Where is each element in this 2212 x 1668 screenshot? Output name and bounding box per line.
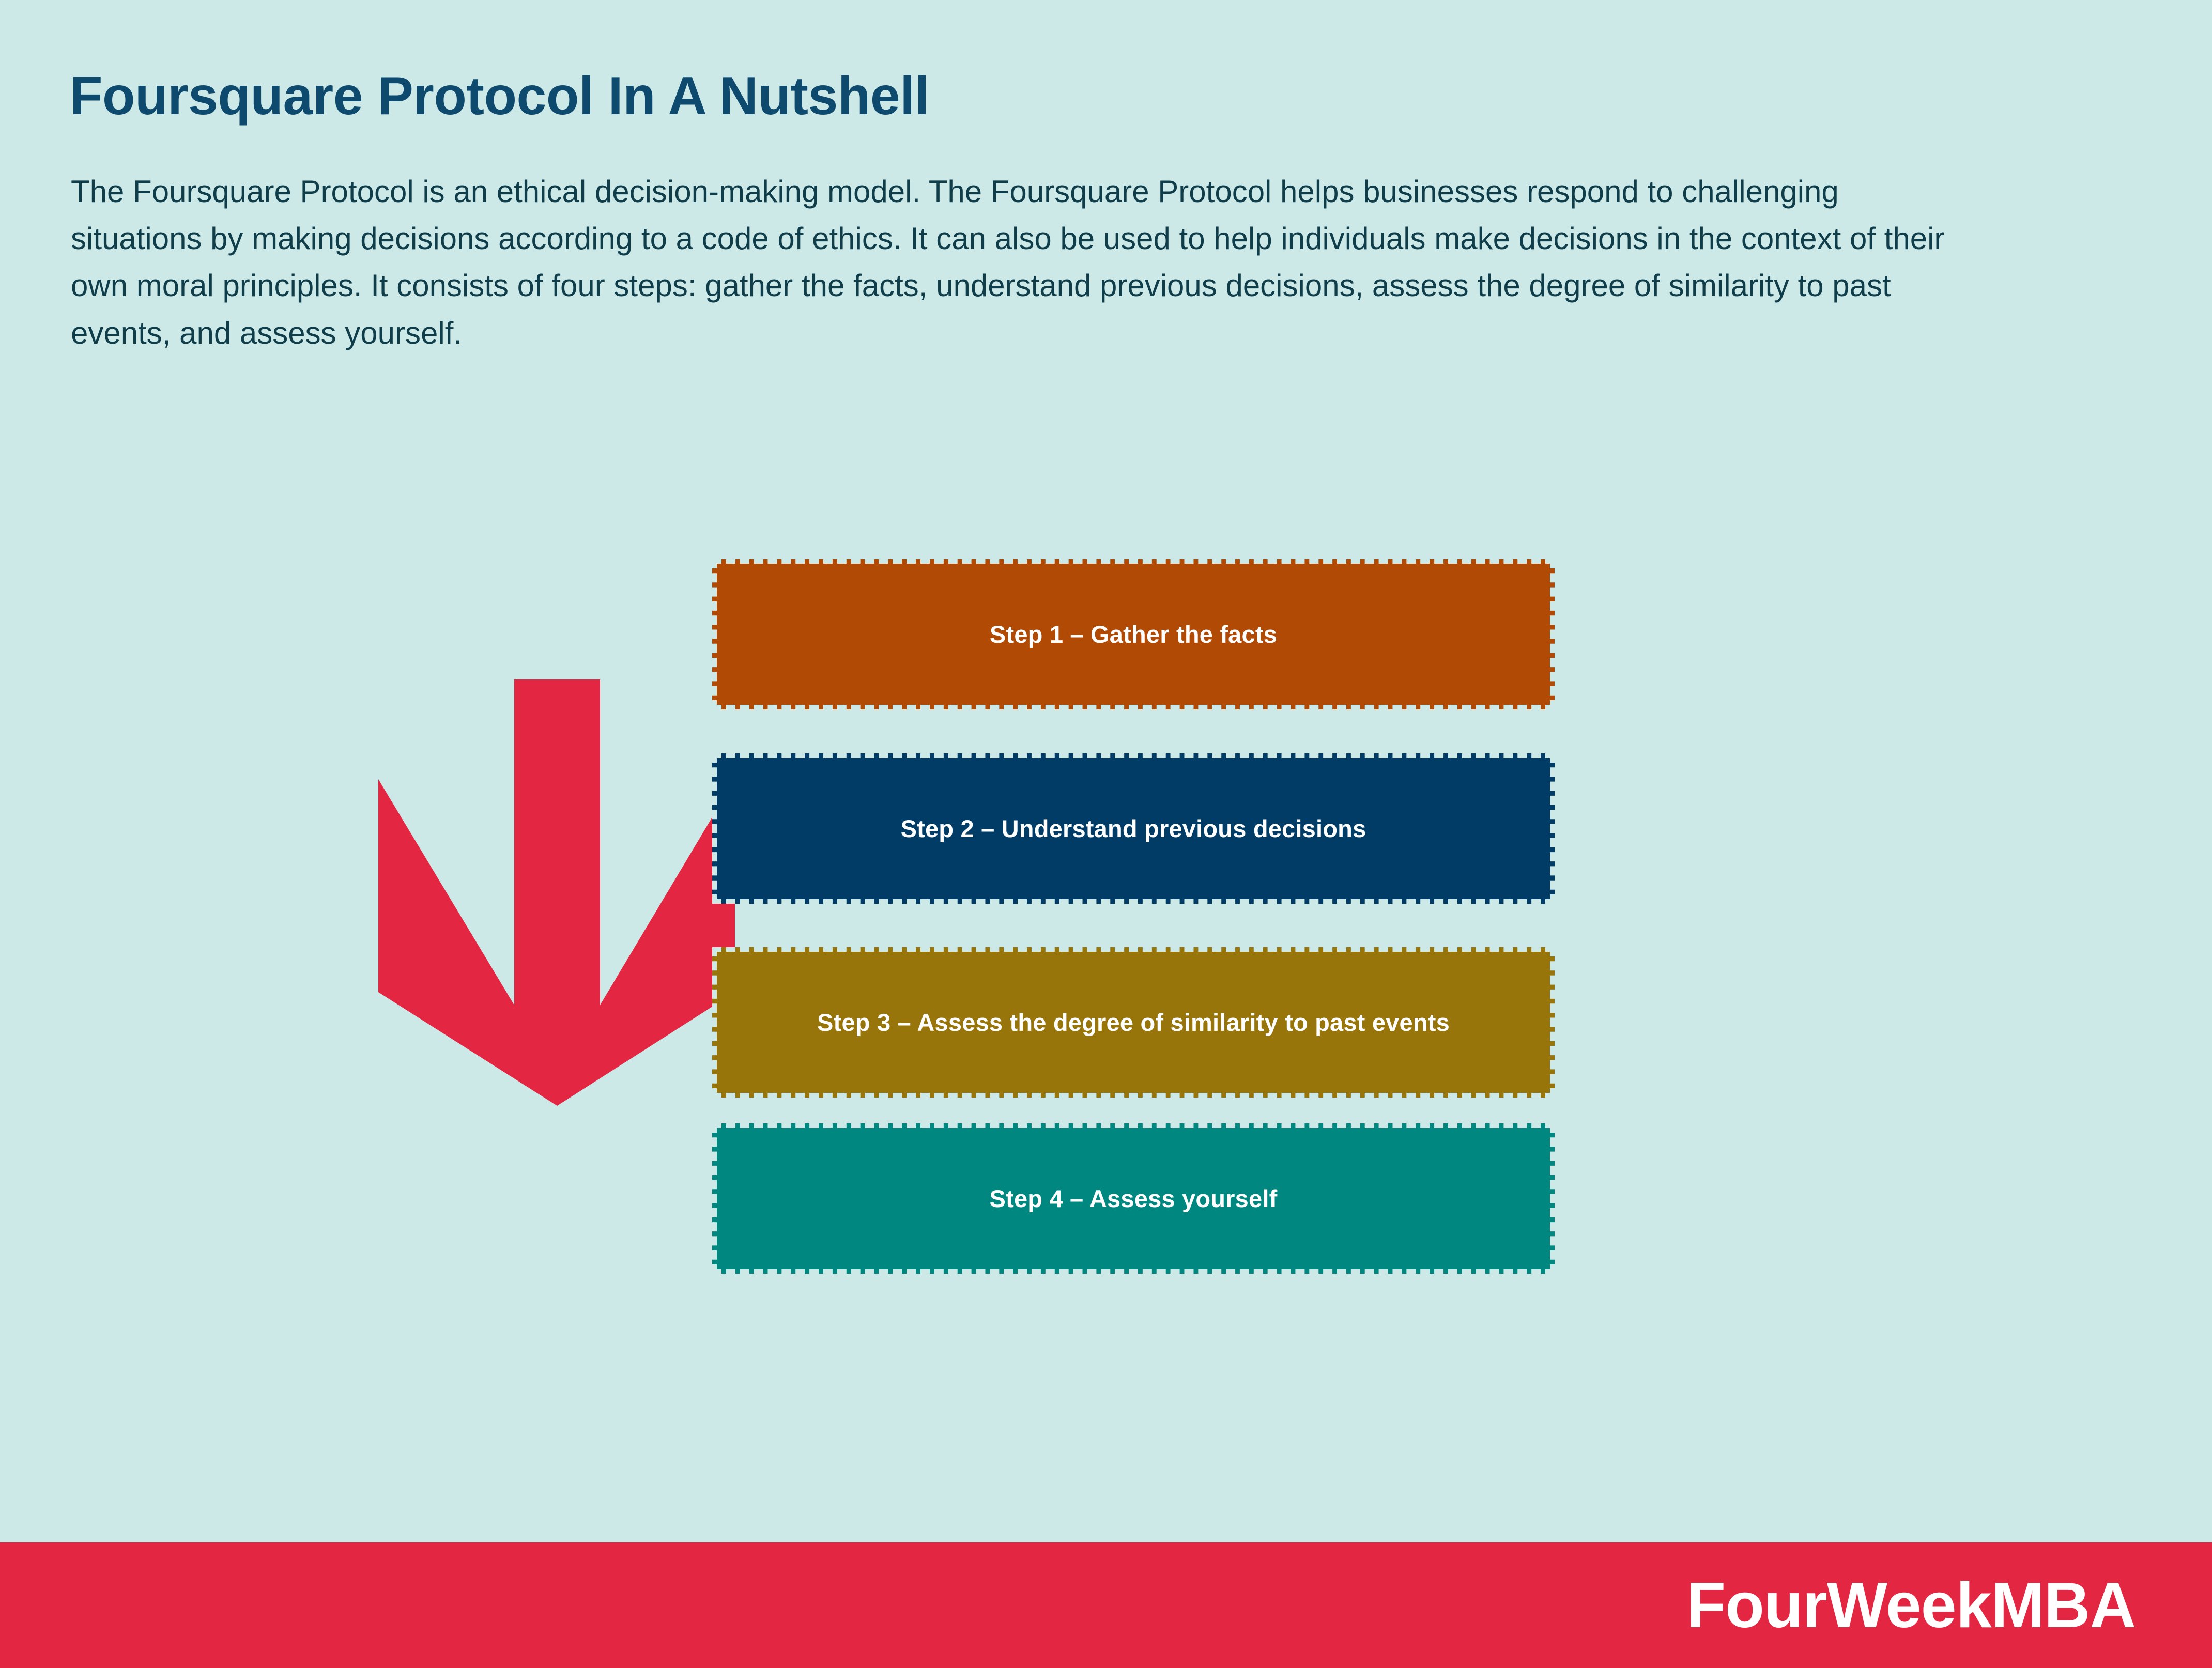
- infographic-canvas: Foursquare Protocol In A Nutshell The Fo…: [0, 0, 2212, 1668]
- step-bar-2-label: Step 2 – Understand previous decisions: [901, 814, 1366, 843]
- step-bar-3[interactable]: Step 3 – Assess the degree of similarity…: [712, 947, 1555, 1098]
- step-bar-4-label: Step 4 – Assess yourself: [990, 1184, 1278, 1213]
- brand-logo[interactable]: FourWeekMBA: [1686, 1569, 2136, 1642]
- arrow-down-shape: [378, 679, 735, 1106]
- footer-bar: FourWeekMBA: [0, 1542, 2212, 1668]
- step-bar-1[interactable]: Step 1 – Gather the facts: [712, 559, 1555, 709]
- arrow-down-icon: [362, 661, 755, 1126]
- step-bar-2[interactable]: Step 2 – Understand previous decisions: [712, 753, 1555, 904]
- step-bar-1-label: Step 1 – Gather the facts: [990, 620, 1277, 648]
- step-bar-3-label: Step 3 – Assess the degree of similarity…: [817, 1008, 1450, 1037]
- foursquare-protocol-diagram: Step 1 – Gather the facts Step 2 – Under…: [0, 0, 2212, 1668]
- step-bar-4[interactable]: Step 4 – Assess yourself: [712, 1123, 1555, 1274]
